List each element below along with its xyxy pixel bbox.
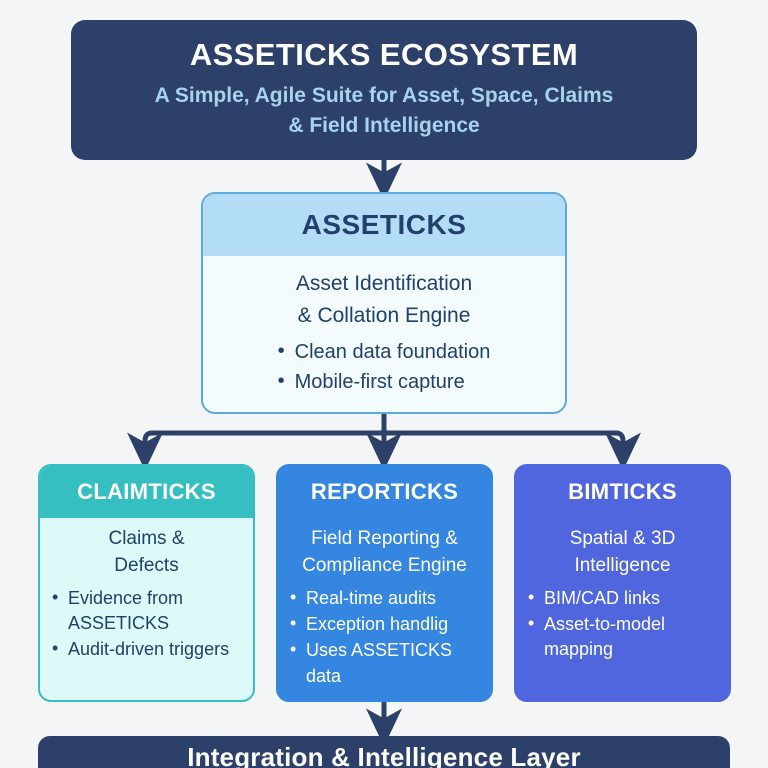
product-card-body-bimticks: Spatial & 3D Intelligence BIM/CAD links …: [516, 518, 729, 664]
product-card-subtitle-reporticks: Field Reporting & Compliance Engine: [290, 526, 479, 580]
product-bullet-list-bimticks: BIM/CAD links Asset-to-model mapping: [528, 586, 717, 664]
product-card-header-claimticks: CLAIMTICKS: [40, 466, 253, 518]
product-card-reporticks[interactable]: REPORTICKS Field Reporting & Compliance …: [276, 464, 493, 702]
product-subtitle-line-2: Intelligence: [528, 553, 717, 580]
ecosystem-subtitle-line-1: A Simple, Agile Suite for Asset, Space, …: [91, 81, 677, 111]
core-card-header: ASSETICKS: [203, 194, 565, 256]
product-card-subtitle-bimticks: Spatial & 3D Intelligence: [528, 526, 717, 580]
product-subtitle-line-2: Compliance Engine: [290, 553, 479, 580]
ecosystem-subtitle: A Simple, Agile Suite for Asset, Space, …: [91, 81, 677, 142]
diagram-canvas: ASSETICKS ECOSYSTEM A Simple, Agile Suit…: [0, 0, 768, 768]
product-card-title-reporticks: REPORTICKS: [311, 479, 458, 505]
product-subtitle-line-1: Claims &: [52, 526, 241, 553]
core-card-subtitle-line-2: & Collation Engine: [221, 300, 547, 332]
product-subtitle-line-1: Field Reporting &: [290, 526, 479, 553]
list-item: Clean data foundation: [278, 337, 491, 367]
product-card-title-claimticks: CLAIMTICKS: [77, 479, 216, 505]
product-bullet-list-claimticks: Evidence from ASSETICKS Audit-driven tri…: [52, 586, 241, 664]
product-card-body-claimticks: Claims & Defects Evidence from ASSETICKS…: [40, 518, 253, 664]
product-card-body-reporticks: Field Reporting & Compliance Engine Real…: [278, 518, 491, 690]
integration-layer-label: Integration & Intelligence Layer: [187, 742, 581, 768]
integration-layer-bar: Integration & Intelligence Layer: [38, 736, 730, 768]
product-bullet-list-reporticks: Real-time audits Exception handlig Uses …: [290, 586, 479, 690]
core-card-asseticks[interactable]: ASSETICKS Asset Identification & Collati…: [201, 192, 567, 414]
list-item: Real-time audits: [290, 586, 479, 611]
ecosystem-banner: ASSETICKS ECOSYSTEM A Simple, Agile Suit…: [71, 20, 697, 160]
core-card-bullet-list: Clean data foundation Mobile-first captu…: [278, 337, 491, 397]
list-item: Exception handlig: [290, 612, 479, 637]
core-card-subtitle-line-1: Asset Identification: [221, 268, 547, 300]
list-item: Asset-to-model mapping: [528, 612, 717, 662]
product-card-bimticks[interactable]: BIMTICKS Spatial & 3D Intelligence BIM/C…: [514, 464, 731, 702]
ecosystem-title: ASSETICKS ECOSYSTEM: [91, 36, 677, 75]
product-subtitle-line-2: Defects: [52, 553, 241, 580]
product-card-claimticks[interactable]: CLAIMTICKS Claims & Defects Evidence fro…: [38, 464, 255, 702]
core-card-body: Asset Identification & Collation Engine …: [203, 256, 565, 397]
product-subtitle-line-1: Spatial & 3D: [528, 526, 717, 553]
product-card-header-bimticks: BIMTICKS: [516, 466, 729, 518]
list-item: Mobile-first capture: [278, 367, 491, 397]
core-card-subtitle: Asset Identification & Collation Engine: [221, 268, 547, 331]
product-card-title-bimticks: BIMTICKS: [568, 479, 677, 505]
core-card-title: ASSETICKS: [302, 209, 467, 241]
product-card-subtitle-claimticks: Claims & Defects: [52, 526, 241, 580]
connector-core-to-products: [145, 414, 623, 452]
list-item: Uses ASSETICKS data: [290, 638, 479, 688]
list-item: Evidence from ASSETICKS: [52, 586, 241, 636]
product-card-header-reporticks: REPORTICKS: [278, 466, 491, 518]
list-item: BIM/CAD links: [528, 586, 717, 611]
ecosystem-subtitle-line-2: & Field Intelligence: [91, 111, 677, 141]
list-item: Audit-driven triggers: [52, 637, 241, 662]
